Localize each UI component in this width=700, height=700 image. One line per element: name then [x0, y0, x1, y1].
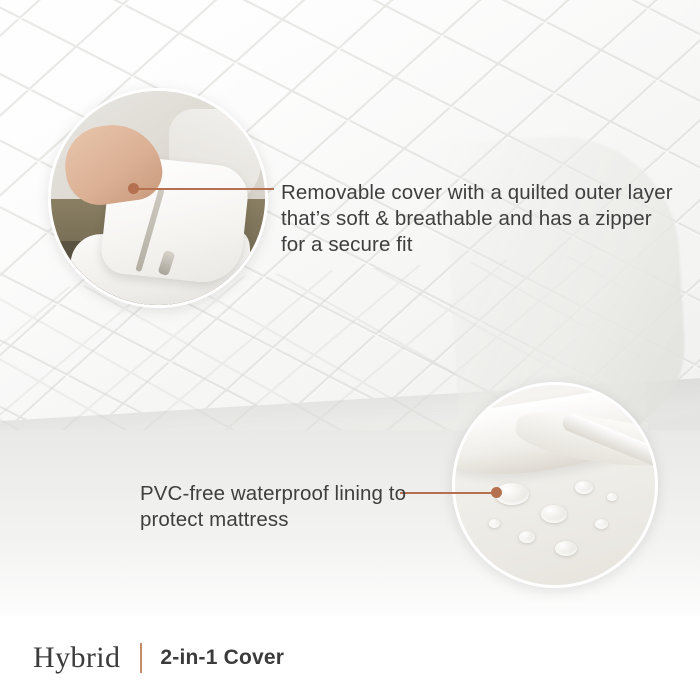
zipper-detail-artwork	[51, 91, 265, 305]
brand-name: Hybrid	[33, 641, 120, 675]
water-droplet	[519, 531, 535, 543]
water-droplet	[555, 541, 577, 556]
water-droplet-detail-photo	[452, 382, 658, 588]
callout-text-removable-cover: Removable cover with a quilted outer lay…	[281, 180, 681, 258]
water-droplet	[607, 493, 617, 501]
water-droplet	[489, 519, 500, 528]
footer-content: Hybrid 2-in-1 Cover	[33, 641, 284, 675]
zipper-detail-photo	[48, 88, 268, 308]
callout-text-waterproof-lining: PVC-free waterproof lining to protect ma…	[140, 481, 450, 533]
water-droplet	[541, 505, 567, 523]
product-feature-image: Removable cover with a quilted outer lay…	[0, 0, 700, 700]
waterproof-detail-artwork	[455, 385, 655, 585]
callout-leader-removable-cover	[134, 188, 274, 190]
footer-subtitle: 2-in-1 Cover	[160, 646, 284, 670]
water-droplet	[575, 481, 593, 494]
footer-bar: Hybrid 2-in-1 Cover	[0, 616, 700, 700]
water-droplet	[595, 519, 608, 529]
footer-divider	[140, 643, 142, 673]
